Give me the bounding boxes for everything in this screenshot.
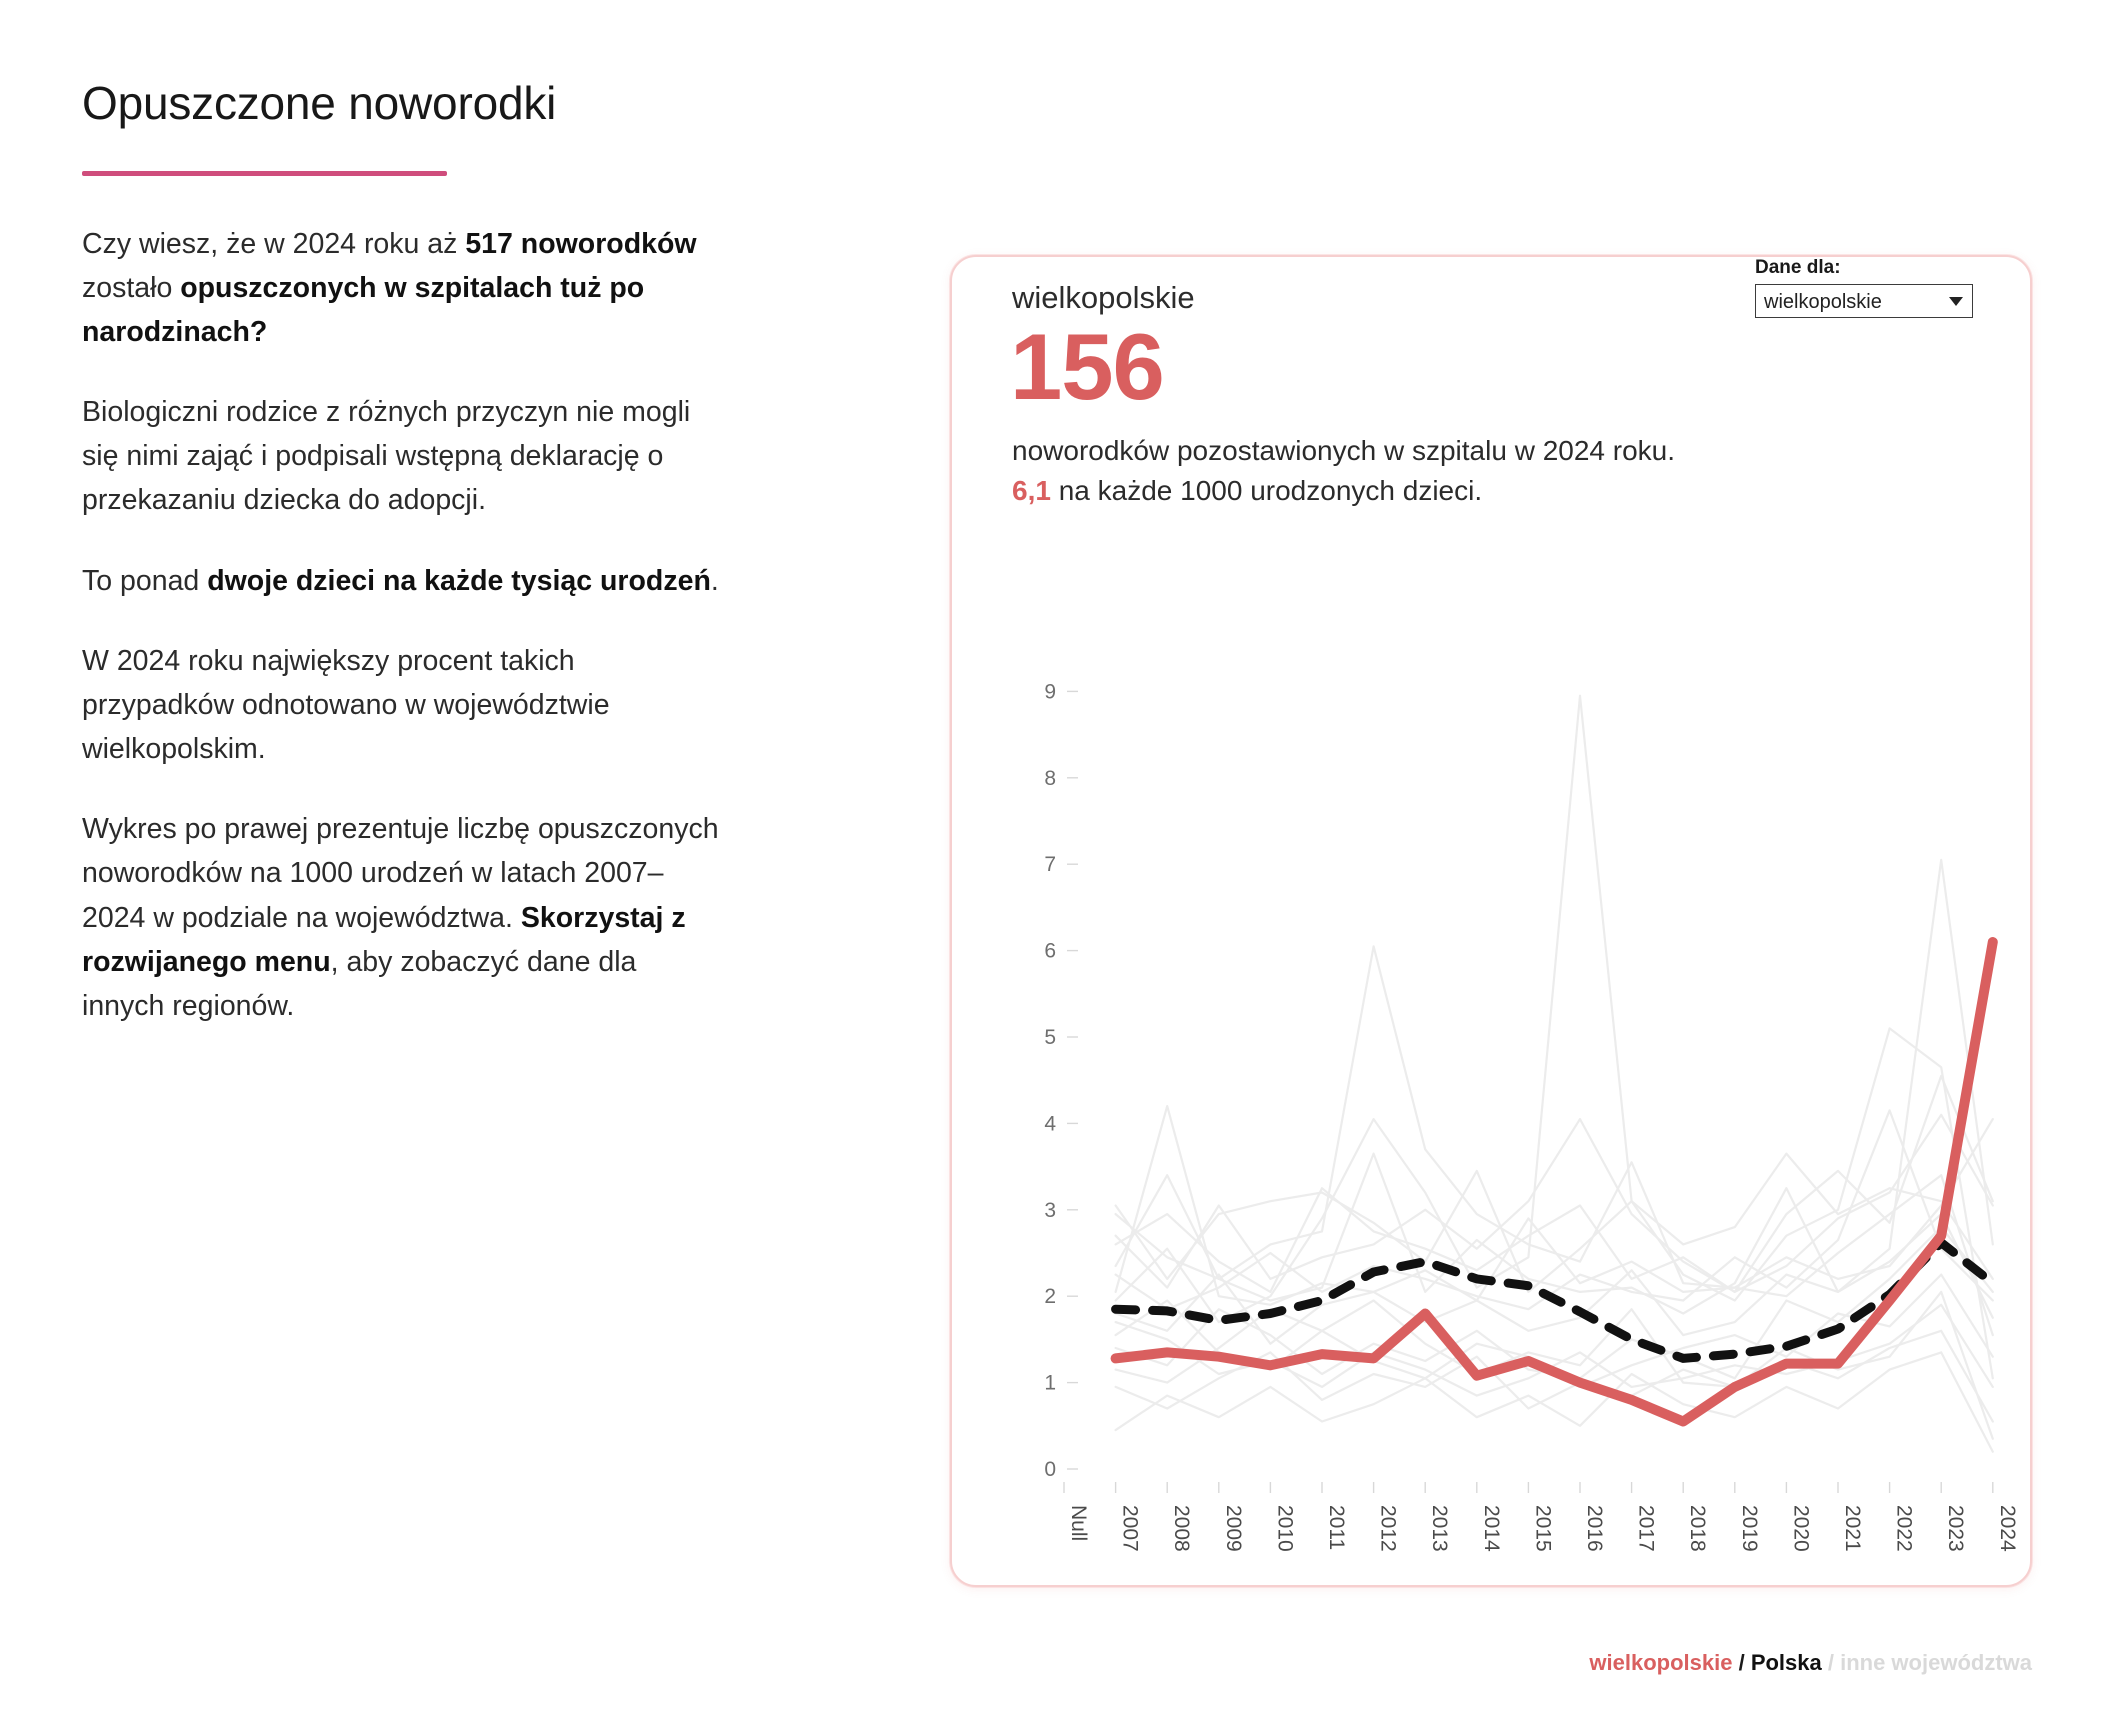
poland-reference-line bbox=[1116, 1243, 1993, 1359]
x-tick-label: 2021 bbox=[1841, 1505, 1864, 1552]
region-picker-label: Dane dla: bbox=[1755, 257, 1977, 279]
article-text: Czy wiesz, że w 2024 roku aż bbox=[82, 228, 465, 260]
card-region-name: wielkopolskie bbox=[1012, 280, 1195, 316]
card-big-number: 156 bbox=[1010, 315, 1164, 418]
chart-legend: wielkopolskie / Polska / inne województw… bbox=[950, 1650, 2032, 1676]
y-tick-label: 9 bbox=[1044, 680, 1056, 703]
x-tick-label: Null bbox=[1067, 1505, 1090, 1541]
article-text: W 2024 roku największy procent takich pr… bbox=[82, 645, 610, 765]
card-rate-value: 6,1 bbox=[1012, 475, 1051, 506]
card-subtitle-line2: 6,1 na każde 1000 urodzonych dzieci. bbox=[1012, 475, 1482, 507]
x-tick-label: 2015 bbox=[1531, 1505, 1554, 1552]
x-tick-label: 2011 bbox=[1325, 1505, 1348, 1550]
background-series-line bbox=[1116, 1154, 1993, 1292]
article-column: Opuszczone noworodki Czy wiesz, że w 202… bbox=[82, 78, 722, 1064]
legend-separator-2: / bbox=[1822, 1650, 1840, 1675]
background-series-line bbox=[1116, 1076, 1993, 1292]
article-body: Czy wiesz, że w 2024 roku aż 517 noworod… bbox=[82, 222, 722, 1029]
region-select-value: wielkopolskie bbox=[1764, 291, 1882, 314]
y-tick-label: 8 bbox=[1044, 767, 1056, 790]
card-subtitle-line1: noworodków pozostawionych w szpitalu w 2… bbox=[1012, 435, 1675, 467]
title-underline bbox=[82, 171, 447, 176]
background-series-line bbox=[1116, 1227, 1993, 1378]
region-select[interactable]: wielkopolskie bbox=[1755, 284, 1973, 318]
x-tick-label: 2022 bbox=[1893, 1505, 1916, 1552]
article-emphasis: dwoje dzieci na każde tysiąc urodzeń bbox=[207, 565, 711, 597]
stat-card: wielkopolskie 156 noworodków pozostawion… bbox=[950, 255, 2032, 1587]
x-tick-label: 2014 bbox=[1480, 1505, 1503, 1552]
background-series-group bbox=[1116, 696, 1993, 1452]
x-tick-label: 2008 bbox=[1170, 1505, 1193, 1552]
x-tick-label: 2019 bbox=[1738, 1505, 1761, 1552]
background-series-line bbox=[1116, 696, 1993, 1379]
article-paragraph: Wykres po prawej prezentuje liczbę opusz… bbox=[82, 807, 722, 1028]
article-paragraph: Biologiczni rodzice z różnych przyczyn n… bbox=[82, 390, 722, 523]
article-emphasis: 517 noworodków bbox=[465, 228, 696, 260]
x-tick-label: 2024 bbox=[1996, 1505, 2019, 1552]
page-root: Opuszczone noworodki Czy wiesz, że w 202… bbox=[0, 0, 2110, 1722]
legend-separator-1: / bbox=[1732, 1650, 1750, 1675]
page-title: Opuszczone noworodki bbox=[82, 78, 722, 129]
x-tick-label: 2016 bbox=[1583, 1505, 1606, 1552]
y-tick-label: 6 bbox=[1044, 940, 1056, 963]
article-text: zostało bbox=[82, 272, 180, 304]
background-series-line bbox=[1116, 1214, 1993, 1344]
background-series-line bbox=[1116, 946, 1993, 1287]
background-series-line bbox=[1116, 1275, 1993, 1387]
x-tick-label: 2020 bbox=[1789, 1505, 1812, 1552]
background-series-line bbox=[1116, 1352, 1993, 1451]
y-tick-label: 0 bbox=[1044, 1458, 1056, 1481]
article-text: Biologiczni rodzice z różnych przyczyn n… bbox=[82, 396, 690, 516]
y-tick-label: 3 bbox=[1044, 1199, 1056, 1222]
y-axis: 0123456789 bbox=[1044, 680, 1078, 1481]
legend-item-poland: Polska bbox=[1751, 1650, 1822, 1675]
background-series-line bbox=[1116, 1115, 1993, 1292]
article-text: . bbox=[711, 565, 719, 597]
background-series-line bbox=[1116, 1106, 1993, 1335]
article-text: To ponad bbox=[82, 565, 207, 597]
x-tick-label: 2009 bbox=[1222, 1505, 1245, 1552]
legend-item-others: inne województwa bbox=[1840, 1650, 2032, 1675]
y-tick-label: 1 bbox=[1044, 1372, 1056, 1395]
background-series-line bbox=[1116, 860, 1993, 1314]
x-tick-label: 2018 bbox=[1686, 1505, 1709, 1552]
article-paragraph: W 2024 roku największy procent takich pr… bbox=[82, 639, 722, 772]
x-tick-label: 2017 bbox=[1635, 1505, 1658, 1552]
background-series-line bbox=[1116, 1305, 1993, 1396]
x-tick-label: 2010 bbox=[1273, 1505, 1296, 1552]
region-picker: Dane dla: wielkopolskie bbox=[1755, 257, 1977, 318]
x-tick-label: 2007 bbox=[1119, 1505, 1142, 1552]
legend-item-region: wielkopolskie bbox=[1589, 1650, 1732, 1675]
y-tick-label: 2 bbox=[1044, 1285, 1056, 1308]
y-tick-label: 5 bbox=[1044, 1026, 1056, 1049]
highlighted-region-line bbox=[1116, 942, 1993, 1422]
article-paragraph: To ponad dwoje dzieci na każde tysiąc ur… bbox=[82, 559, 722, 603]
chevron-down-icon bbox=[1949, 297, 1963, 306]
x-axis: Null200720082009201020112012201320142015… bbox=[1064, 1482, 2019, 1552]
y-tick-label: 7 bbox=[1044, 853, 1056, 876]
background-series-line bbox=[1116, 1110, 1993, 1309]
background-series-line bbox=[1116, 1331, 1993, 1422]
x-tick-label: 2012 bbox=[1377, 1505, 1400, 1552]
background-series-line bbox=[1116, 1292, 1993, 1439]
x-tick-label: 2023 bbox=[1944, 1505, 1967, 1552]
card-rate-suffix: na każde 1000 urodzonych dzieci. bbox=[1051, 475, 1482, 506]
y-tick-label: 4 bbox=[1044, 1112, 1056, 1135]
x-tick-label: 2013 bbox=[1428, 1505, 1451, 1552]
article-paragraph: Czy wiesz, że w 2024 roku aż 517 noworod… bbox=[82, 222, 722, 355]
